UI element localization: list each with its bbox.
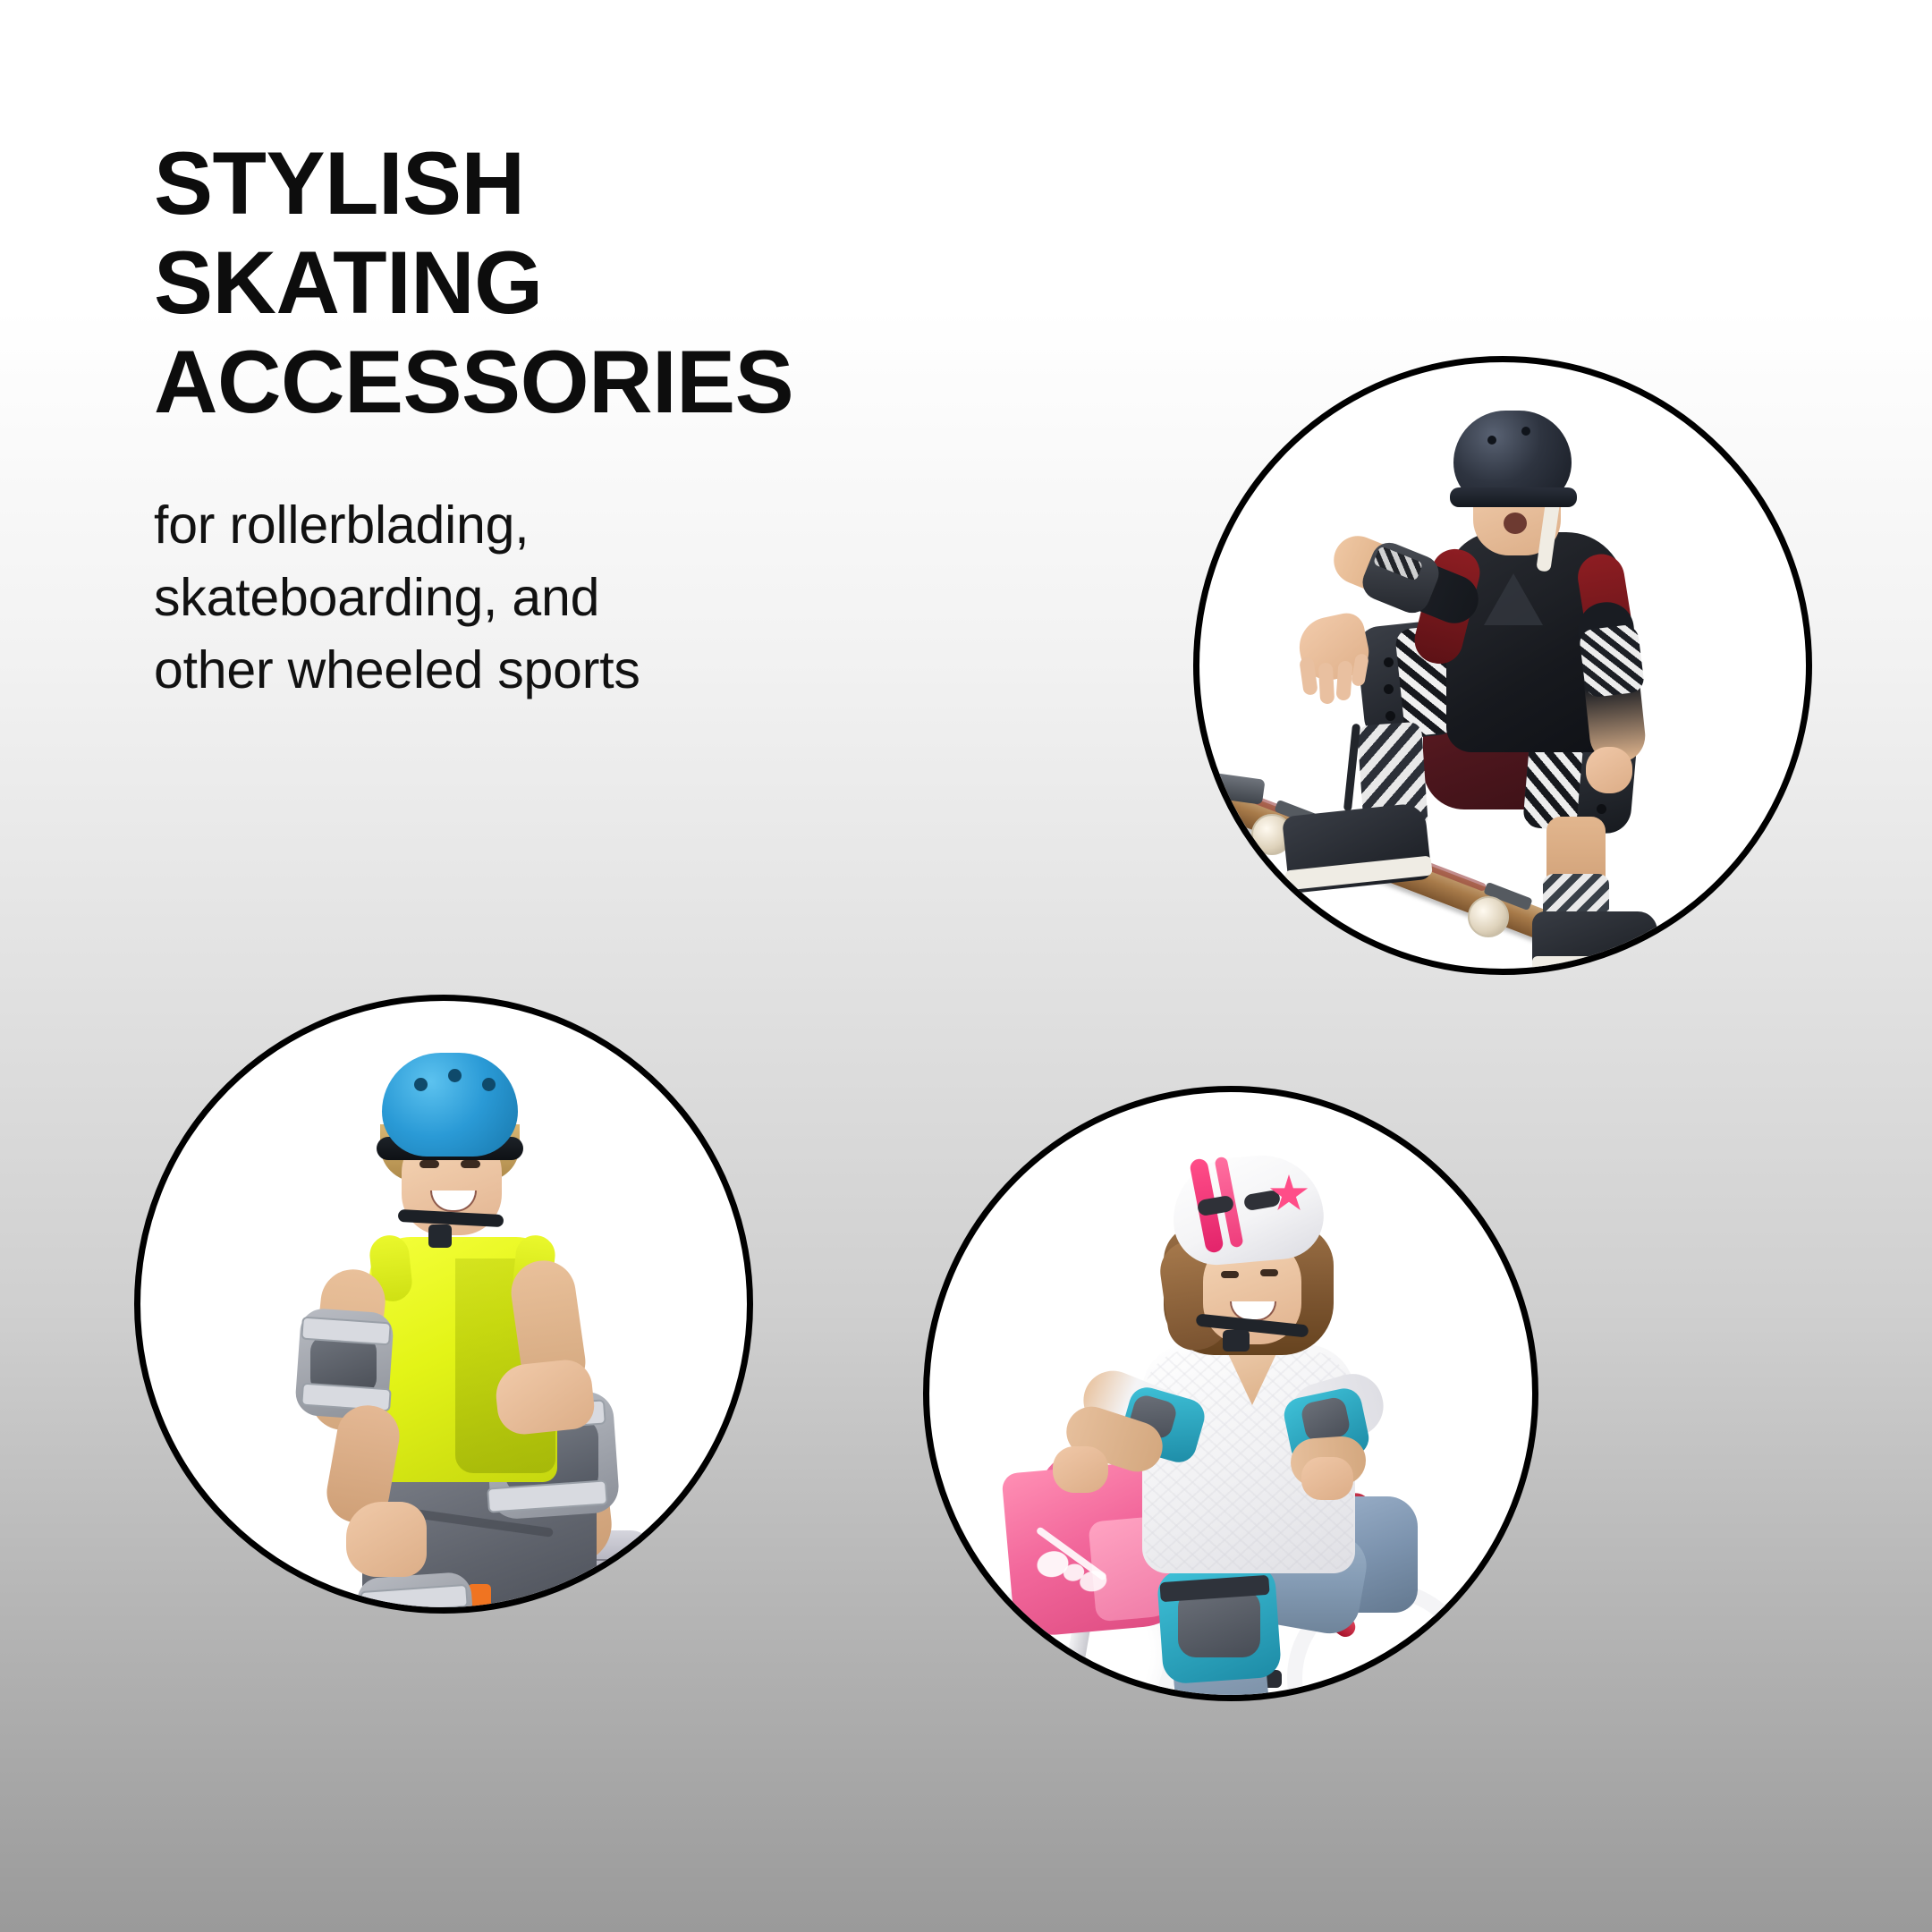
- skater-knee-pad-rivet: [1597, 804, 1606, 814]
- page-title: STYLISH SKATING ACCESSORIES: [154, 134, 1120, 432]
- rollerblade-scene: [140, 1001, 747, 1607]
- skater-helmet-vent: [1487, 436, 1496, 445]
- skater-knee-pad-rivet: [1384, 684, 1394, 694]
- skater-shoe-right-sole: [1532, 956, 1661, 974]
- skater-hand-right: [493, 1358, 597, 1437]
- subtitle-line-1: for rollerblading,: [154, 489, 1120, 562]
- skater-knee-pad-rivet: [1384, 657, 1394, 667]
- skater-hand-left: [346, 1502, 427, 1577]
- rider-hand-left: [1053, 1446, 1108, 1493]
- headline-line-3: ACCESSORIES: [154, 333, 1120, 432]
- skateboard-wheel-rear: [1468, 896, 1509, 937]
- skater-hand-right: [1586, 747, 1632, 793]
- rider-eye-left: [1221, 1271, 1239, 1278]
- photo-circle-bicycle: [923, 1086, 1538, 1701]
- helmet-vent: [482, 1078, 496, 1091]
- skateboard-scene: [1199, 362, 1806, 969]
- skater-knee-pad-rivet: [1385, 711, 1395, 721]
- skater-eye-left: [419, 1160, 439, 1168]
- skater-eye-right: [461, 1160, 480, 1168]
- rider-eye-right: [1260, 1269, 1278, 1276]
- skater-helmet-brim: [1450, 487, 1577, 507]
- skater-elbow-pad-right: [1579, 623, 1646, 698]
- page-subtitle: for rollerblading, skateboarding, and ot…: [154, 432, 1120, 708]
- headline-line-2: SKATING: [154, 233, 1120, 333]
- bicycle-scene: [929, 1092, 1532, 1695]
- skater-helmet-blue: [382, 1053, 518, 1157]
- rider-helmet-chin-buckle: [1223, 1330, 1250, 1352]
- skater-helmet-vent: [1521, 427, 1530, 436]
- skater-mouth: [1504, 513, 1527, 534]
- helmet-vent: [414, 1078, 428, 1091]
- poster-canvas: STYLISH SKATING ACCESSORIES for rollerbl…: [0, 0, 1932, 1932]
- photo-circle-skateboard: [1193, 356, 1812, 975]
- text-block: STYLISH SKATING ACCESSORIES for rollerbl…: [154, 134, 1120, 708]
- headline-line-1: STYLISH: [154, 134, 1120, 233]
- skater-finger: [1335, 660, 1352, 700]
- helmet-vent: [448, 1069, 462, 1082]
- subtitle-line-3: other wheeled sports: [154, 634, 1120, 707]
- helmet-chin-buckle: [428, 1224, 452, 1248]
- rider-hand-right: [1301, 1457, 1353, 1500]
- photo-circle-rollerblade: [134, 995, 753, 1614]
- skater-shoe-lace-left: [1343, 724, 1360, 811]
- skater-finger: [1318, 663, 1335, 705]
- subtitle-line-2: skateboarding, and: [154, 562, 1120, 634]
